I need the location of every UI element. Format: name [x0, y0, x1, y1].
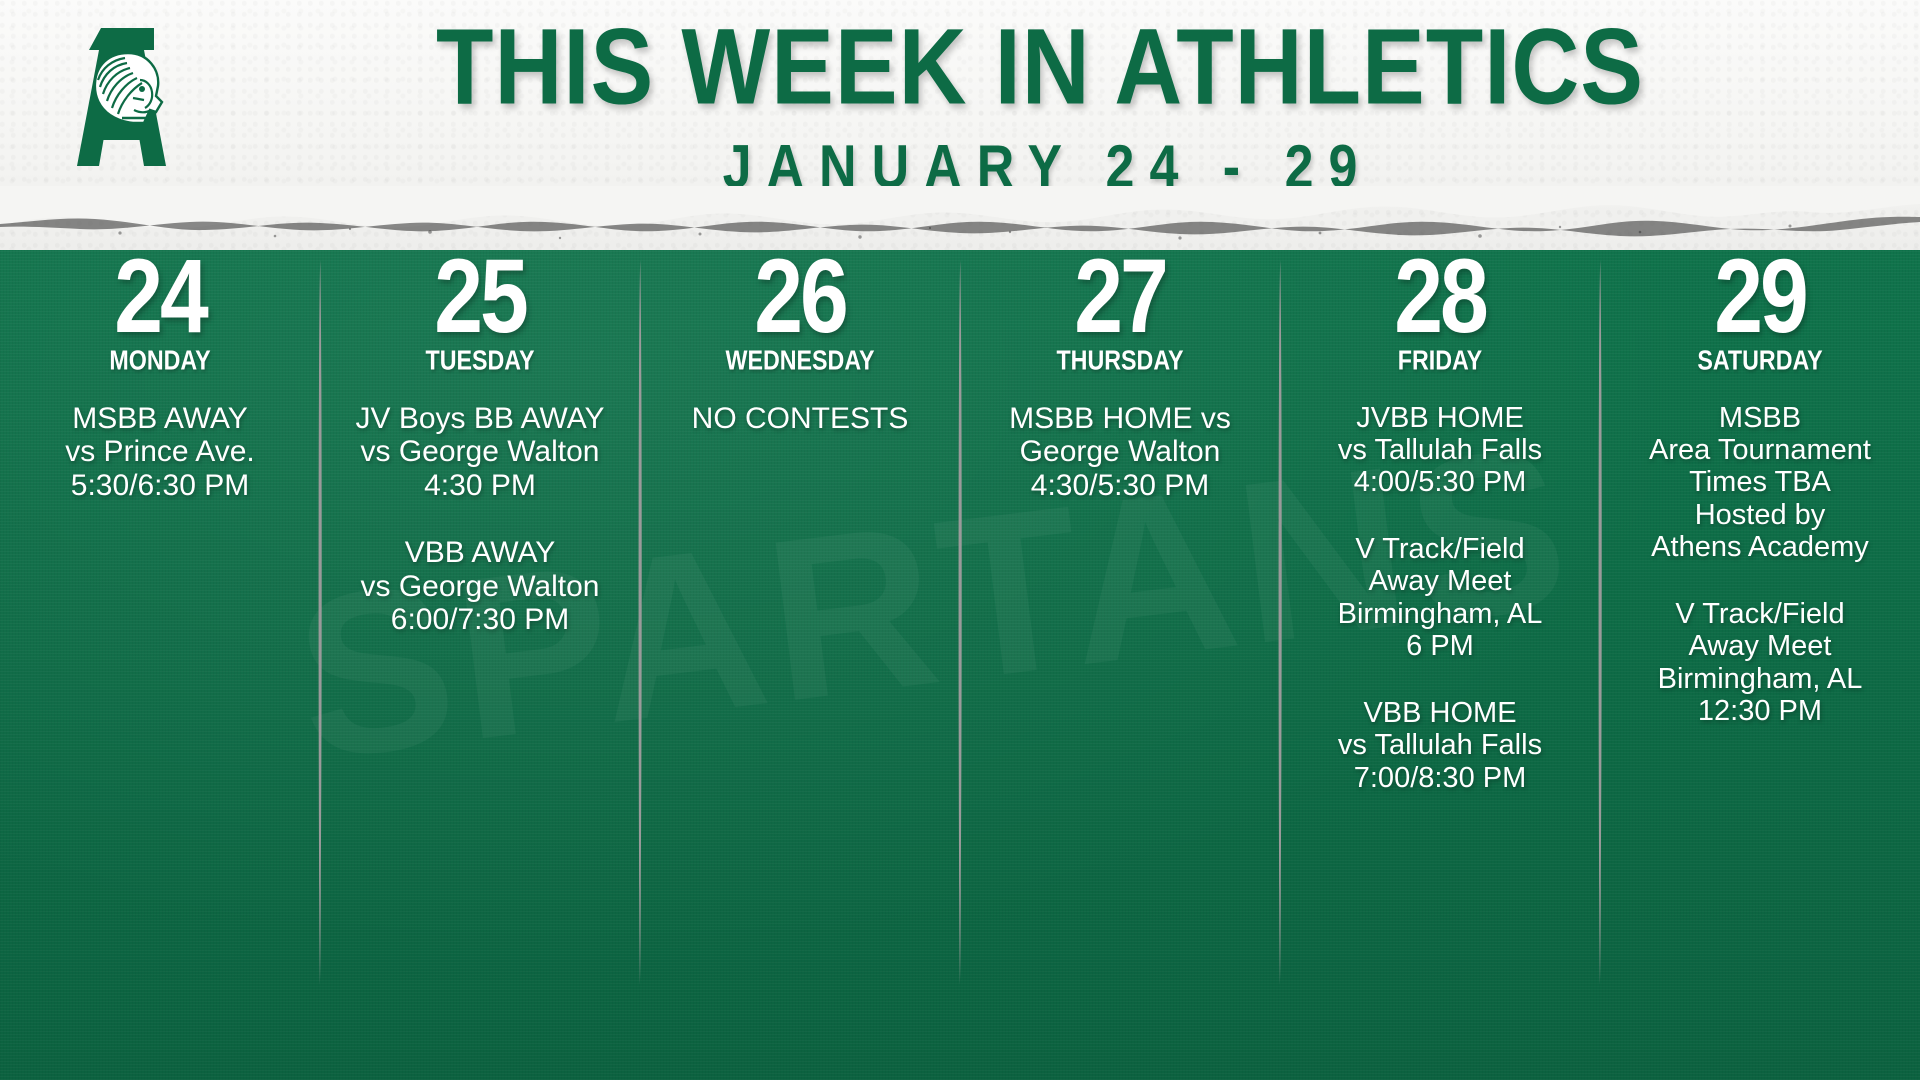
event-line: Times TBA — [1612, 466, 1908, 498]
day-column-thursday: 27THURSDAYMSBB HOME vsGeorge Walton4:30/… — [960, 200, 1280, 1080]
day-weekday-label: TUESDAY — [339, 347, 622, 375]
event-line: vs Tallulah Falls — [1292, 729, 1588, 761]
event-line: V Track/Field — [1292, 533, 1588, 565]
event-line: 6:00/7:30 PM — [332, 603, 628, 637]
event-line: Hosted by — [1612, 499, 1908, 531]
event-line: V Track/Field — [1612, 598, 1908, 630]
page-title: THIS WEEK IN ATHLETICS — [217, 14, 1863, 122]
day-events-list: NO CONTESTS — [648, 402, 952, 436]
event-line: vs Prince Ave. — [12, 435, 308, 469]
day-weekday-label: WEDNESDAY — [659, 347, 942, 375]
this-week-in-athletics-poster: SPARTANS — [0, 0, 1920, 1080]
column-divider-line — [1597, 260, 1604, 985]
day-column-monday: 24MONDAYMSBB AWAYvs Prince Ave.5:30/6:30… — [0, 200, 320, 1080]
event-entry: JVBB HOMEvs Tallulah Falls4:00/5:30 PM — [1292, 402, 1588, 499]
column-divider-line — [317, 260, 324, 985]
event-entry: MSBB HOME vsGeorge Walton4:30/5:30 PM — [972, 402, 1268, 503]
day-events-list: MSBB HOME vsGeorge Walton4:30/5:30 PM — [968, 402, 1272, 503]
date-range-subtitle: JANUARY 24 - 29 — [200, 132, 1880, 203]
event-entry: JV Boys BB AWAYvs George Walton4:30 PM — [332, 402, 628, 503]
event-line: VBB AWAY — [332, 536, 628, 570]
day-number: 25 — [325, 254, 635, 340]
event-entry: VBB AWAYvs George Walton6:00/7:30 PM — [332, 536, 628, 637]
event-line: 4:30 PM — [332, 469, 628, 503]
event-line: 4:30/5:30 PM — [972, 469, 1268, 503]
event-line: NO CONTESTS — [652, 402, 948, 436]
event-line: Birmingham, AL — [1292, 598, 1588, 630]
day-weekday-label: SATURDAY — [1619, 347, 1902, 375]
event-entry: V Track/FieldAway MeetBirmingham, AL6 PM — [1292, 533, 1588, 663]
header-title-block: THIS WEEK IN ATHLETICS JANUARY 24 - 29 — [200, 14, 1880, 192]
event-line: 12:30 PM — [1612, 695, 1908, 727]
event-line: Birmingham, AL — [1612, 663, 1908, 695]
event-entry: MSBBArea TournamentTimes TBAHosted byAth… — [1612, 402, 1908, 564]
day-column-wednesday: 26WEDNESDAYNO CONTESTS — [640, 200, 960, 1080]
event-line: 6 PM — [1292, 630, 1588, 662]
day-events-list: JV Boys BB AWAYvs George Walton4:30 PMVB… — [328, 402, 632, 638]
day-events-list: MSBB AWAYvs Prince Ave.5:30/6:30 PM — [8, 402, 312, 503]
event-entry: NO CONTESTS — [652, 402, 948, 436]
event-entry: VBB HOMEvs Tallulah Falls7:00/8:30 PM — [1292, 697, 1588, 794]
day-number: 28 — [1285, 254, 1595, 340]
event-line: Away Meet — [1292, 565, 1588, 597]
column-divider-line — [1277, 260, 1284, 985]
event-line: JVBB HOME — [1292, 402, 1588, 434]
event-line: vs George Walton — [332, 570, 628, 604]
day-number: 26 — [645, 254, 955, 340]
header-paper-banner: THIS WEEK IN ATHLETICS JANUARY 24 - 29 — [0, 0, 1920, 250]
column-divider-line — [637, 260, 644, 985]
event-line: 7:00/8:30 PM — [1292, 762, 1588, 794]
event-line: JV Boys BB AWAY — [332, 402, 628, 436]
spartan-a-logo-icon — [60, 20, 195, 180]
event-line: 5:30/6:30 PM — [12, 469, 308, 503]
event-line: 4:00/5:30 PM — [1292, 466, 1588, 498]
event-line: VBB HOME — [1292, 697, 1588, 729]
day-number: 29 — [1605, 254, 1915, 340]
event-line: vs Tallulah Falls — [1292, 434, 1588, 466]
day-column-friday: 28FRIDAYJVBB HOMEvs Tallulah Falls4:00/5… — [1280, 200, 1600, 1080]
column-divider-line — [957, 260, 964, 985]
day-number: 24 — [5, 254, 315, 340]
event-line: George Walton — [972, 435, 1268, 469]
event-entry: V Track/FieldAway MeetBirmingham, AL12:3… — [1612, 598, 1908, 728]
event-line: MSBB — [1612, 402, 1908, 434]
event-entry: MSBB AWAYvs Prince Ave.5:30/6:30 PM — [12, 402, 308, 503]
event-line: Area Tournament — [1612, 434, 1908, 466]
event-line: Athens Academy — [1612, 531, 1908, 563]
day-column-saturday: 29SATURDAYMSBBArea TournamentTimes TBAHo… — [1600, 200, 1920, 1080]
day-column-tuesday: 25TUESDAYJV Boys BB AWAYvs George Walton… — [320, 200, 640, 1080]
event-line: MSBB AWAY — [12, 402, 308, 436]
day-weekday-label: THURSDAY — [979, 347, 1262, 375]
event-line: MSBB HOME vs — [972, 402, 1268, 436]
day-events-list: MSBBArea TournamentTimes TBAHosted byAth… — [1608, 402, 1912, 728]
day-weekday-label: MONDAY — [19, 347, 302, 375]
week-day-grid: 24MONDAYMSBB AWAYvs Prince Ave.5:30/6:30… — [0, 200, 1920, 1080]
event-line: vs George Walton — [332, 435, 628, 469]
day-events-list: JVBB HOMEvs Tallulah Falls4:00/5:30 PMV … — [1288, 402, 1592, 795]
day-weekday-label: FRIDAY — [1299, 347, 1582, 375]
event-line: Away Meet — [1612, 630, 1908, 662]
day-number: 27 — [965, 254, 1275, 340]
